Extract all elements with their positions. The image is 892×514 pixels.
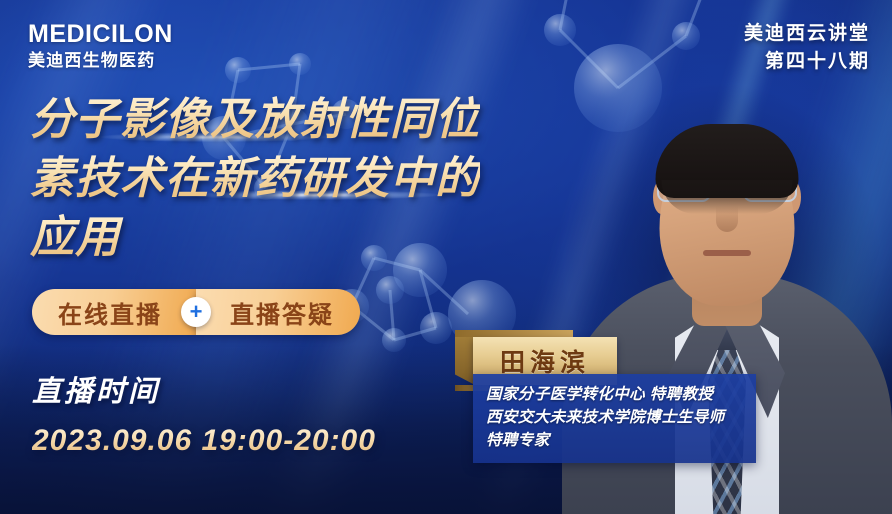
series-line-2: 第四十八期	[744, 48, 870, 76]
poster-title: 分子影像及放射性同位 素技术在新药研发中的 应用	[30, 90, 480, 267]
brand-name-en: MEDICILON	[28, 22, 173, 47]
ribbon-top-strip	[455, 330, 573, 337]
series-line-1: 美迪西云讲堂	[744, 20, 870, 48]
badge-live-stream-label: 在线直播	[58, 295, 162, 330]
badge-live-stream[interactable]: 在线直播	[32, 289, 196, 335]
badge-live-qa-label: 直播答疑	[230, 295, 334, 330]
title-line-3: 应用	[30, 208, 480, 267]
brand-name-cn: 美迪西生物医药	[28, 52, 173, 69]
broadcast-time-label: 直播时间	[32, 375, 376, 410]
plus-icon: +	[181, 297, 211, 327]
speaker-credentials-panel: 国家分子医学转化中心 特聘教授 西安交大未来技术学院博士生导师 特聘专家	[473, 374, 756, 463]
ribbon-fold	[455, 337, 475, 385]
portrait-mouth	[703, 250, 751, 256]
broadcast-time-value: 2023.09.06 19:00-20:00	[32, 423, 376, 459]
title-line-1: 分子影像及放射性同位	[30, 90, 480, 149]
format-badges: 在线直播 + 直播答疑	[32, 289, 360, 335]
brand-logo: MEDICILON 美迪西生物医药	[28, 22, 173, 69]
plus-glyph: +	[190, 301, 203, 323]
badge-live-qa[interactable]: 直播答疑	[196, 289, 360, 335]
series-label: 美迪西云讲堂 第四十八期	[744, 20, 870, 75]
credential-line-1: 国家分子医学转化中心 特聘教授	[486, 383, 745, 406]
portrait-hair	[656, 124, 799, 198]
credential-line-3: 特聘专家	[486, 429, 745, 452]
title-line-2: 素技术在新药研发中的	[30, 149, 480, 208]
credential-line-2: 西安交大未来技术学院博士生导师	[486, 406, 745, 429]
broadcast-time-block: 直播时间 2023.09.06 19:00-20:00	[32, 375, 376, 459]
webinar-poster: MEDICILON 美迪西生物医药 美迪西云讲堂 第四十八期 分子影像及放射性同…	[0, 0, 892, 514]
